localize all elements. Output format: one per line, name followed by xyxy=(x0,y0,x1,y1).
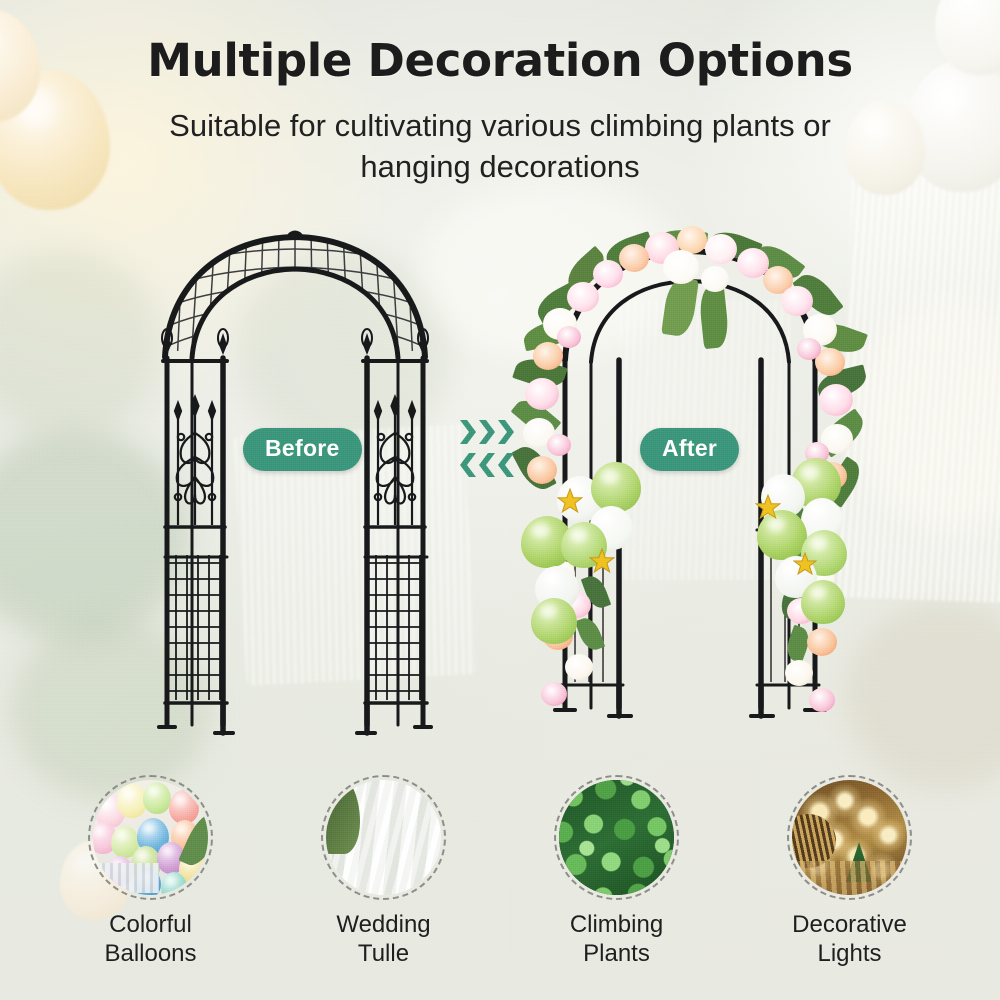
background-texture-overlay xyxy=(0,0,1000,1000)
infographic-canvas: Multiple Decoration Options Suitable for… xyxy=(0,0,1000,1000)
